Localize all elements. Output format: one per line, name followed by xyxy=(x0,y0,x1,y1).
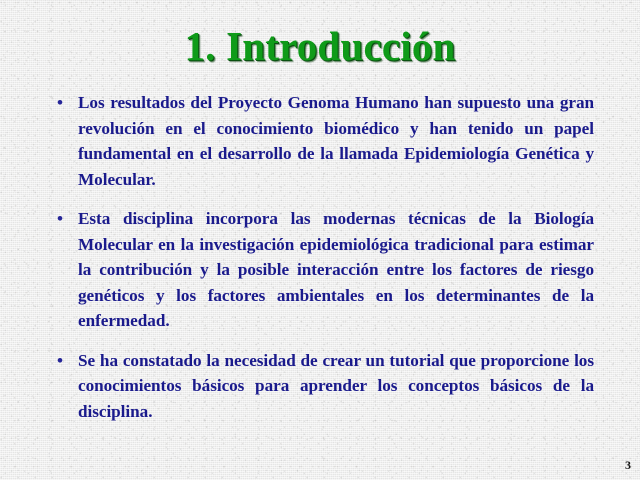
list-item: • Los resultados del Proyecto Genoma Hum… xyxy=(52,90,594,192)
list-item-text: Los resultados del Proyecto Genoma Human… xyxy=(78,90,594,192)
list-item: • Esta disciplina incorpora las modernas… xyxy=(52,206,594,334)
bullet-point-icon: • xyxy=(57,206,71,232)
list-item-text: Esta disciplina incorpora las modernas t… xyxy=(78,206,594,334)
slide-content: 1. Introducción • Los resultados del Pro… xyxy=(0,0,640,480)
bullet-point-icon: • xyxy=(57,90,71,116)
list-item-text: Se ha constatado la necesidad de crear u… xyxy=(78,348,594,425)
bullet-list: • Los resultados del Proyecto Genoma Hum… xyxy=(52,90,594,424)
bullet-point-icon: • xyxy=(57,348,71,374)
list-item: • Se ha constatado la necesidad de crear… xyxy=(52,348,594,425)
page-number: 3 xyxy=(625,458,631,473)
presentation-slide: 1. Introducción • Los resultados del Pro… xyxy=(0,0,640,480)
slide-title: 1. Introducción xyxy=(0,24,640,69)
